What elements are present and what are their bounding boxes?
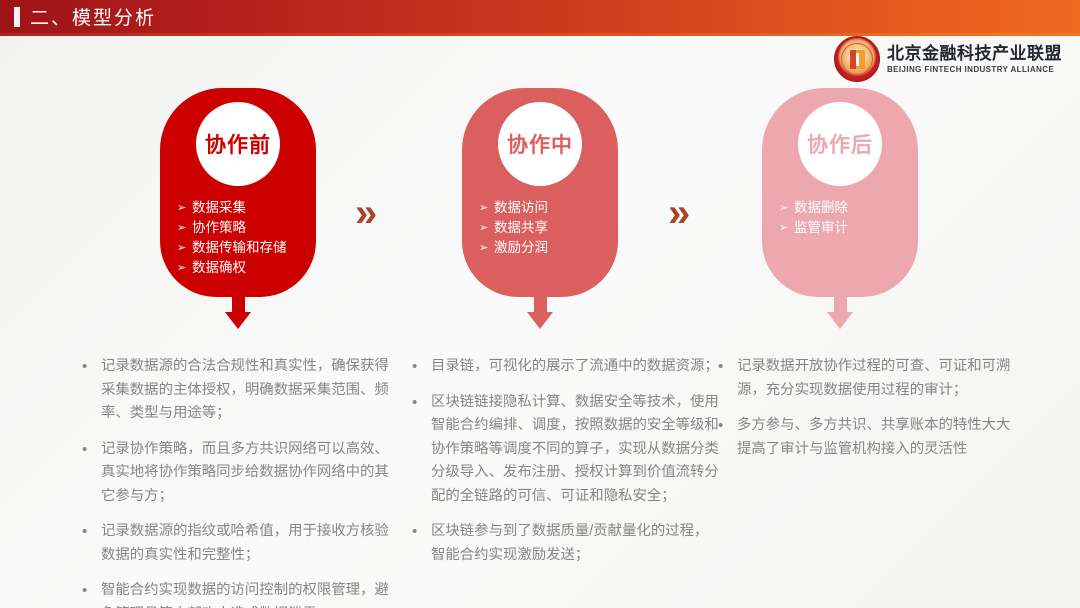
bullet-dot-icon: • (82, 355, 101, 379)
detail-text: 记录数据源的指纹或哈希值，用于接收方核验数据的真实性和完整性； (101, 520, 402, 567)
caret-icon: ➢ (177, 218, 192, 238)
stage-title-before: 协作前 (196, 102, 280, 186)
arrow-shaft (834, 290, 847, 312)
bullet-dot-icon: • (718, 355, 737, 379)
caret-icon: ➢ (177, 238, 192, 258)
stage-card-after: 协作后 ➢数据删除 ➢监管审计 (762, 88, 918, 297)
detail-text: 区块链链接隐私计算、数据安全等技术，使用智能合约编排、调度，按照数据的安全等级和… (431, 391, 722, 509)
detail-text: 记录协作策略，而且多方共识网络可以高效、真实地将协作策略同步给数据协作网络中的其… (101, 438, 402, 509)
stage-item-list-after: ➢数据删除 ➢监管审计 (762, 198, 918, 238)
bullet-dot-icon: • (412, 391, 431, 415)
detail-text: 记录数据开放协作过程的可查、可证和可溯源，充分实现数据使用过程的审计； (737, 355, 1018, 402)
caret-icon: ➢ (779, 198, 794, 218)
stage-item-label: 监管审计 (794, 218, 848, 238)
list-item: •记录数据源的合法合规性和真实性，确保获得采集数据的主体授权，明确数据采集范围、… (82, 355, 402, 426)
stage-item-label: 数据访问 (494, 198, 548, 218)
down-arrow-icon-before (225, 290, 251, 329)
list-item: •多方参与、多方共识、共享账本的特性大大提高了审计与监管机构接入的灵活性 (718, 414, 1018, 461)
bullet-dot-icon: • (718, 414, 737, 438)
down-arrow-icon-after (827, 290, 853, 329)
stage-item-label: 协作策略 (192, 218, 246, 238)
detail-text: 智能合约实现数据的访问控制的权限管理，避免管理员等内部攻击造成数据泄露； (101, 579, 402, 608)
detail-column-before: •记录数据源的合法合规性和真实性，确保获得采集数据的主体授权，明确数据采集范围、… (82, 355, 402, 608)
chevron-right-icon-1: » (355, 193, 373, 233)
stage-item-label: 数据传输和存储 (192, 238, 287, 258)
arrow-head (225, 312, 251, 329)
bullet-dot-icon: • (82, 579, 101, 603)
detail-column-during: •目录链，可视化的展示了流通中的数据资源； •区块链链接隐私计算、数据安全等技术… (412, 355, 722, 579)
stage-item-label: 数据确权 (192, 258, 246, 278)
stage-item: ➢数据共享 (479, 218, 618, 238)
arrow-shaft (534, 290, 547, 312)
chevron-right-icon-2: » (668, 193, 686, 233)
detail-list: •记录数据源的合法合规性和真实性，确保获得采集数据的主体授权，明确数据采集范围、… (82, 355, 402, 608)
detail-text: 记录数据源的合法合规性和真实性，确保获得采集数据的主体授权，明确数据采集范围、频… (101, 355, 402, 426)
caret-icon: ➢ (479, 218, 494, 238)
detail-text: 目录链，可视化的展示了流通中的数据资源； (431, 355, 722, 379)
stage-item: ➢数据删除 (779, 198, 918, 218)
list-item: •区块链参与到了数据质量/贡献量化的过程，智能合约实现激励发送； (412, 520, 722, 567)
stage-card-before: 协作前 ➢数据采集 ➢协作策略 ➢数据传输和存储 ➢数据确权 (160, 88, 316, 297)
bullet-dot-icon: • (412, 355, 431, 379)
detail-list: •记录数据开放协作过程的可查、可证和可溯源，充分实现数据使用过程的审计； •多方… (718, 355, 1018, 461)
stage-item: ➢监管审计 (779, 218, 918, 238)
list-item: •目录链，可视化的展示了流通中的数据资源； (412, 355, 722, 379)
stage-item: ➢数据访问 (479, 198, 618, 218)
stage-item-list-during: ➢数据访问 ➢数据共享 ➢激励分润 (462, 198, 618, 258)
detail-column-after: •记录数据开放协作过程的可查、可证和可溯源，充分实现数据使用过程的审计； •多方… (718, 355, 1018, 473)
stage-item: ➢数据确权 (177, 258, 316, 278)
list-item: •记录数据开放协作过程的可查、可证和可溯源，充分实现数据使用过程的审计； (718, 355, 1018, 402)
stage-item: ➢数据采集 (177, 198, 316, 218)
detail-text: 多方参与、多方共识、共享账本的特性大大提高了审计与监管机构接入的灵活性 (737, 414, 1018, 461)
stage-title-after: 协作后 (798, 102, 882, 186)
down-arrow-icon-during (527, 290, 553, 329)
stage-item: ➢协作策略 (177, 218, 316, 238)
stage-item-label: 数据删除 (794, 198, 848, 218)
list-item: •记录数据源的指纹或哈希值，用于接收方核验数据的真实性和完整性； (82, 520, 402, 567)
stage-item-label: 数据共享 (494, 218, 548, 238)
stage-item: ➢数据传输和存储 (177, 238, 316, 258)
bullet-dot-icon: • (82, 438, 101, 462)
caret-icon: ➢ (779, 218, 794, 238)
caret-icon: ➢ (177, 258, 192, 278)
arrow-head (527, 312, 553, 329)
arrow-head (827, 312, 853, 329)
stage-item-label: 数据采集 (192, 198, 246, 218)
stage-item-list-before: ➢数据采集 ➢协作策略 ➢数据传输和存储 ➢数据确权 (160, 198, 316, 278)
arrow-shaft (232, 290, 245, 312)
list-item: •记录协作策略，而且多方共识网络可以高效、真实地将协作策略同步给数据协作网络中的… (82, 438, 402, 509)
caret-icon: ➢ (479, 198, 494, 218)
caret-icon: ➢ (177, 198, 192, 218)
caret-icon: ➢ (479, 238, 494, 258)
bullet-dot-icon: • (82, 520, 101, 544)
detail-text: 区块链参与到了数据质量/贡献量化的过程，智能合约实现激励发送； (431, 520, 722, 567)
list-item: •智能合约实现数据的访问控制的权限管理，避免管理员等内部攻击造成数据泄露； (82, 579, 402, 608)
stage-title-during: 协作中 (498, 102, 582, 186)
stage-item-label: 激励分润 (494, 238, 548, 258)
detail-list: •目录链，可视化的展示了流通中的数据资源； •区块链链接隐私计算、数据安全等技术… (412, 355, 722, 567)
stage-card-during: 协作中 ➢数据访问 ➢数据共享 ➢激励分润 (462, 88, 618, 297)
bullet-dot-icon: • (412, 520, 431, 544)
stage-item: ➢激励分润 (479, 238, 618, 258)
list-item: •区块链链接隐私计算、数据安全等技术，使用智能合约编排、调度，按照数据的安全等级… (412, 391, 722, 509)
